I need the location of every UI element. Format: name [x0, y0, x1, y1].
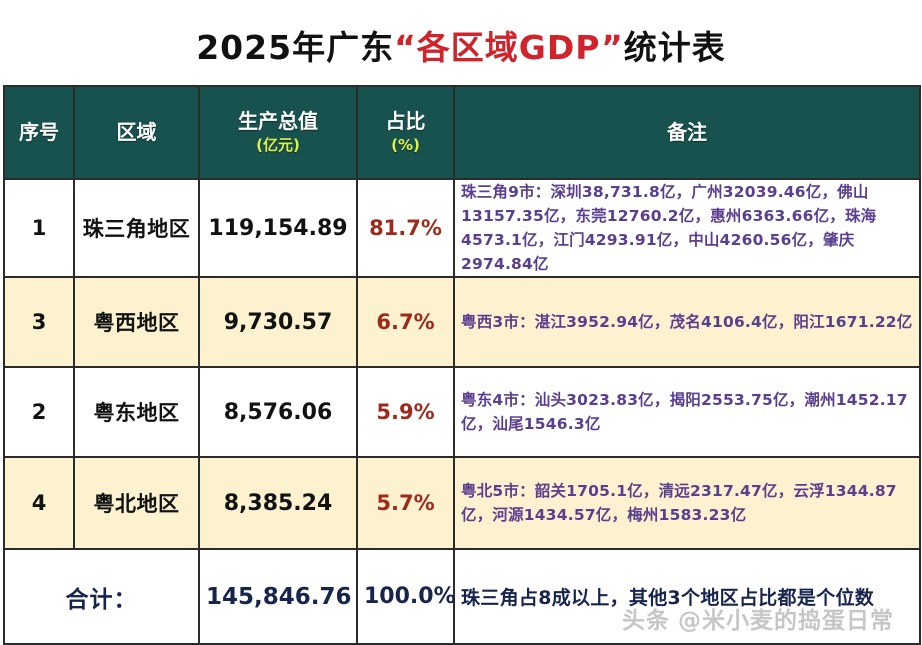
column-header-region: 区域 [74, 86, 199, 179]
cell-index: 4 [4, 457, 74, 549]
column-header-gdp-unit: (亿元) [206, 137, 350, 155]
column-header-remark: 备注 [454, 86, 920, 179]
column-header-share-label: 占比 [386, 109, 426, 133]
cell-share: 81.7% [357, 179, 454, 277]
title-suffix: 统计表 [624, 28, 726, 67]
column-header-share-unit: (%) [364, 137, 447, 155]
column-header-region-label: 区域 [117, 120, 157, 144]
title-prefix: 2025年广东 [196, 28, 394, 67]
cell-total-gdp: 145,846.76 [199, 549, 357, 644]
table-total-row: 合计： 145,846.76 100.0% 珠三角占8成以上，其他3个地区占比都… [4, 549, 920, 644]
table-header: 序号 区域 生产总值 (亿元) 占比 (%) 备注 [4, 86, 920, 179]
title-quote-close: ” [601, 28, 624, 67]
cell-region: 粤西地区 [74, 277, 199, 367]
cell-total-share: 100.0% [357, 549, 454, 644]
cell-gdp: 8,576.06 [199, 367, 357, 457]
table-row: 4 粤北地区 8,385.24 5.7% 粤北5市：韶关1705.1亿，清远23… [4, 457, 920, 549]
column-header-gdp-label: 生产总值 [238, 109, 318, 133]
cell-index: 2 [4, 367, 74, 457]
gdp-statistics-page: 2025年广东“各区域GDP”统计表 序号 区域 [0, 0, 922, 641]
cell-gdp: 119,154.89 [199, 179, 357, 277]
column-header-gdp: 生产总值 (亿元) [199, 86, 357, 179]
table-row: 1 珠三角地区 119,154.89 81.7% 珠三角9市：深圳38,731.… [4, 179, 920, 277]
cell-gdp: 8,385.24 [199, 457, 357, 549]
page-title-bar: 2025年广东“各区域GDP”统计表 [0, 0, 922, 85]
cell-index: 1 [4, 179, 74, 277]
cell-share: 6.7% [357, 277, 454, 367]
cell-remark: 粤北5市：韶关1705.1亿，清远2317.47亿，云浮1344.87亿，河源1… [454, 457, 920, 549]
column-header-index-label: 序号 [19, 120, 59, 144]
title-quote-open: “ [394, 28, 417, 67]
cell-share: 5.7% [357, 457, 454, 549]
table-header-row: 序号 区域 生产总值 (亿元) 占比 (%) 备注 [4, 86, 920, 179]
column-header-index: 序号 [4, 86, 74, 179]
cell-share: 5.9% [357, 367, 454, 457]
cell-total-label: 合计： [4, 549, 199, 644]
title-highlight: 各区域GDP [417, 28, 601, 67]
table-body: 1 珠三角地区 119,154.89 81.7% 珠三角9市：深圳38,731.… [4, 179, 920, 644]
gdp-table: 序号 区域 生产总值 (亿元) 占比 (%) 备注 [3, 85, 921, 645]
cell-region: 粤东地区 [74, 367, 199, 457]
cell-remark: 粤西3市：湛江3952.94亿，茂名4106.4亿，阳江1671.22亿 [454, 277, 920, 367]
page-title: 2025年广东“各区域GDP”统计表 [196, 21, 726, 69]
cell-total-remark: 珠三角占8成以上，其他3个地区占比都是个位数 [454, 549, 920, 644]
cell-gdp: 9,730.57 [199, 277, 357, 367]
table-container: 序号 区域 生产总值 (亿元) 占比 (%) 备注 [0, 85, 922, 645]
cell-region: 粤北地区 [74, 457, 199, 549]
table-row: 3 粤西地区 9,730.57 6.7% 粤西3市：湛江3952.94亿，茂名4… [4, 277, 920, 367]
cell-remark: 珠三角9市：深圳38,731.8亿，广州32039.46亿，佛山13157.35… [454, 179, 920, 277]
column-header-remark-label: 备注 [667, 120, 707, 144]
column-header-share: 占比 (%) [357, 86, 454, 179]
cell-index: 3 [4, 277, 74, 367]
cell-region: 珠三角地区 [74, 179, 199, 277]
table-row: 2 粤东地区 8,576.06 5.9% 粤东4市：汕头3023.83亿，揭阳2… [4, 367, 920, 457]
cell-remark: 粤东4市：汕头3023.83亿，揭阳2553.75亿，潮州1452.17亿，汕尾… [454, 367, 920, 457]
